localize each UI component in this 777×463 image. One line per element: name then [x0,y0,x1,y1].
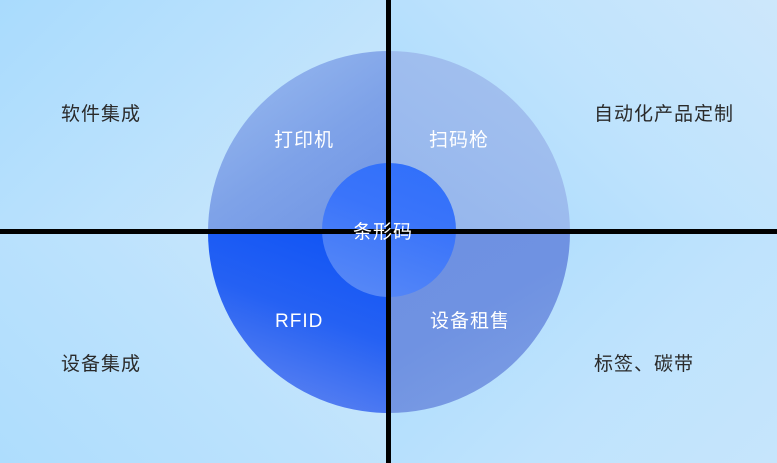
ring-label-rental: 设备租售 [430,312,510,331]
outer-label-equipment-integration: 设备集成 [61,355,141,374]
diagram-canvas: 打印机 扫码枪 RFID 设备租售 条形码 软件集成 自动化产品定制 设备集成 … [0,0,777,463]
outer-label-software-integration: 软件集成 [61,105,141,124]
ring-label-printer: 打印机 [274,131,334,150]
outer-label-labels-ribbons: 标签、碳带 [594,355,694,374]
ring-label-scanner: 扫码枪 [429,131,489,150]
ring-label-rfid: RFID [275,312,323,331]
outer-label-automation-customization: 自动化产品定制 [594,105,734,124]
center-label-barcode: 条形码 [353,223,413,242]
